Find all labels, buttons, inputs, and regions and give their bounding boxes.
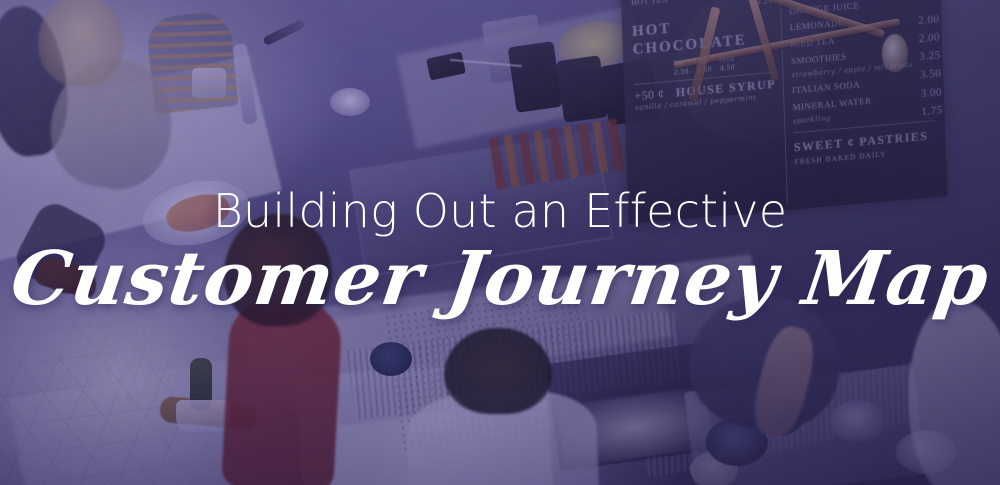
hero-banner: COLD BREW 3.25 HOT TEA 2.50 2.25 HOT CHO… [0,0,1000,485]
banner-subline: Customer Journey Map [7,242,994,316]
banner-text-block: Building Out an Effective Customer Journ… [0,0,1000,485]
banner-headline: Building Out an Effective [213,188,788,234]
